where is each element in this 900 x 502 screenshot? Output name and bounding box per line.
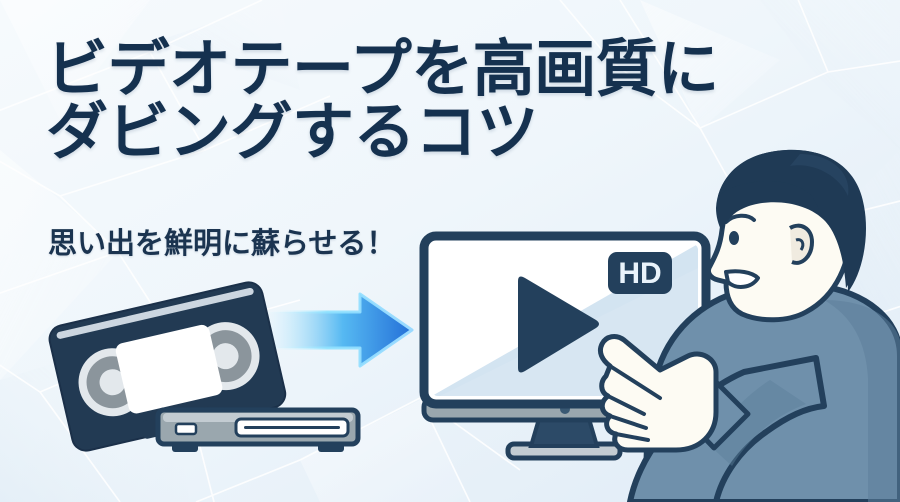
person-layer	[0, 0, 900, 502]
banner-canvas: ビデオテープを高画質に ダビングするコツ 思い出を鮮明に蘇らせる！	[0, 0, 900, 502]
